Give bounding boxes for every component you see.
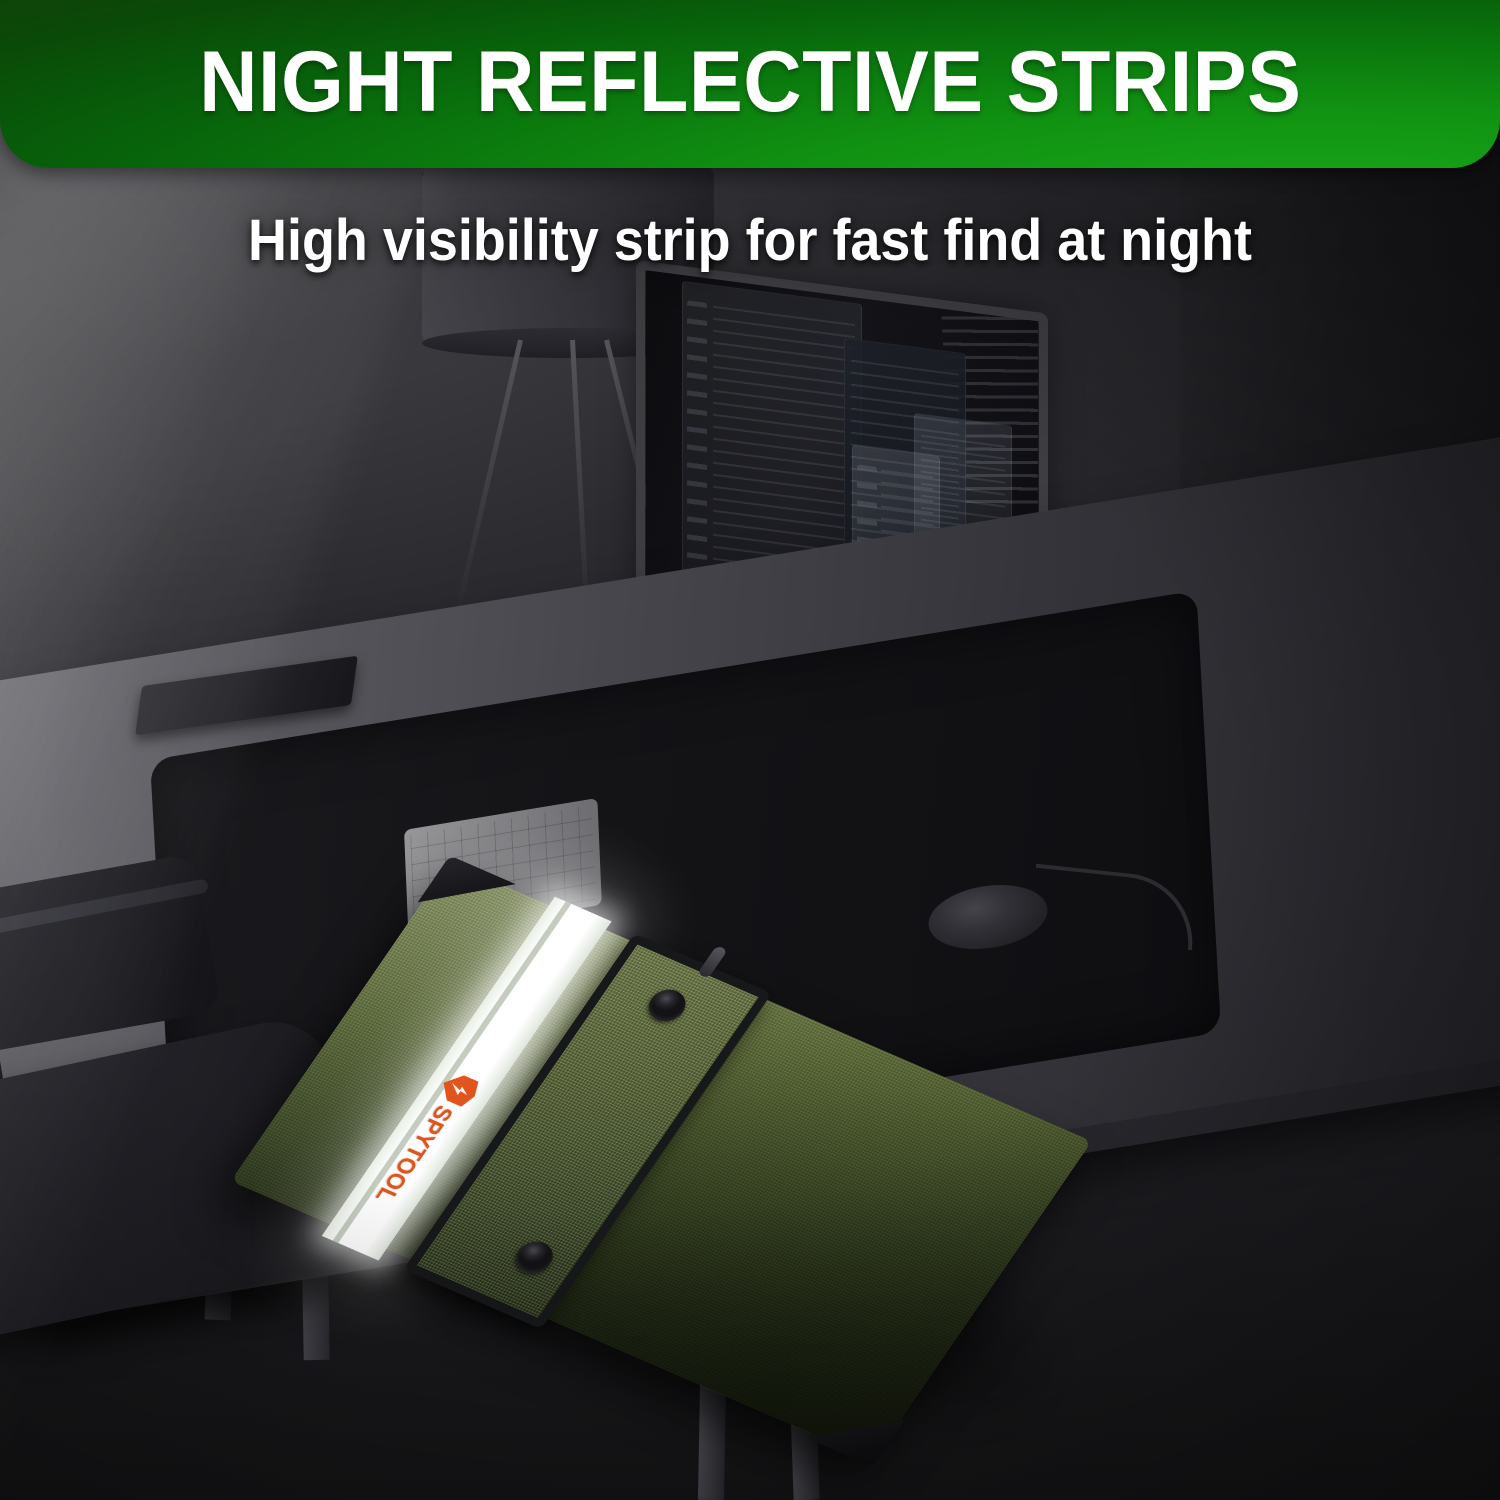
product-marketing-image:  xyxy=(0,0,1500,1500)
lamp-leg xyxy=(455,339,523,613)
banner-title: NIGHT REFLECTIVE STRIPS xyxy=(199,39,1301,129)
product-faraday-bag: SPYTOOL xyxy=(450,862,1260,1382)
header-banner: NIGHT REFLECTIVE STRIPS xyxy=(0,0,1500,168)
subtitle-text: High visibility strip for fast find at n… xyxy=(53,212,1448,270)
lamp-leg xyxy=(570,340,590,620)
